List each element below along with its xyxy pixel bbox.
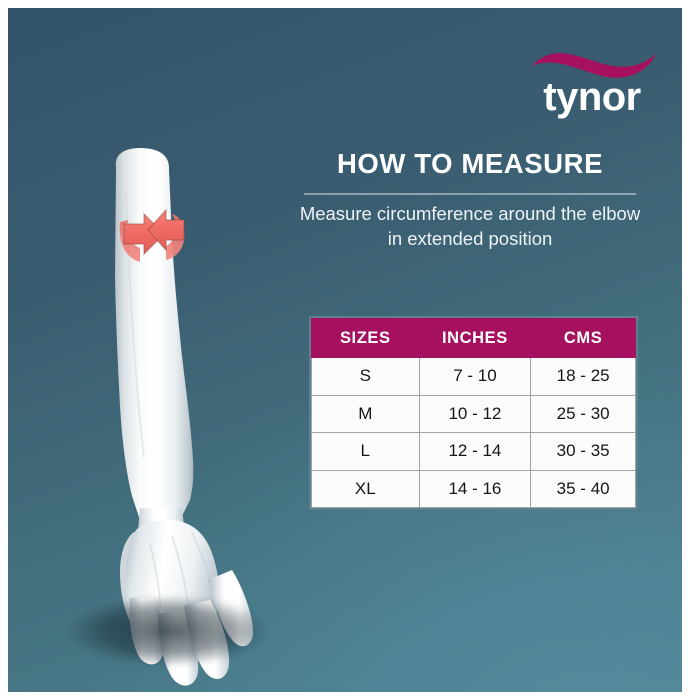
table-row: S 7 - 10 18 - 25: [312, 358, 636, 396]
cell-inches: 12 - 14: [419, 433, 531, 471]
size-chart-table: SIZES INCHES CMS S 7 - 10 18 - 25 M 10 -…: [311, 318, 636, 508]
title-divider: [304, 193, 636, 195]
cell-inches: 14 - 16: [419, 470, 531, 508]
column-header-sizes: SIZES: [312, 319, 420, 358]
cell-cms: 35 - 40: [531, 470, 636, 508]
table-row: M 10 - 12 25 - 30: [312, 395, 636, 433]
page-title: HOW TO MEASURE: [296, 148, 644, 180]
table-row: L 12 - 14 30 - 35: [312, 433, 636, 471]
poster-canvas: tynor HOW TO MEASURE Measure circumferen…: [8, 8, 682, 692]
cell-size: L: [312, 433, 420, 471]
column-header-inches: INCHES: [419, 319, 531, 358]
cell-cms: 30 - 35: [531, 433, 636, 471]
page-subtitle: Measure circumference around the elbow i…: [296, 201, 644, 251]
arm-shape: [115, 148, 193, 566]
cell-cms: 18 - 25: [531, 358, 636, 396]
cell-cms: 25 - 30: [531, 395, 636, 433]
table-header-row: SIZES INCHES CMS: [312, 319, 636, 358]
cell-inches: 7 - 10: [419, 358, 531, 396]
cell-size: M: [312, 395, 420, 433]
svg-text:tynor: tynor: [543, 75, 641, 119]
ground-shadow: [68, 596, 268, 666]
cell-size: S: [312, 358, 420, 396]
cell-inches: 10 - 12: [419, 395, 531, 433]
tynor-logo: tynor: [524, 44, 660, 120]
table-row: XL 14 - 16 35 - 40: [312, 470, 636, 508]
image-frame: tynor HOW TO MEASURE Measure circumferen…: [0, 0, 690, 700]
column-header-cms: CMS: [531, 319, 636, 358]
cell-size: XL: [312, 470, 420, 508]
